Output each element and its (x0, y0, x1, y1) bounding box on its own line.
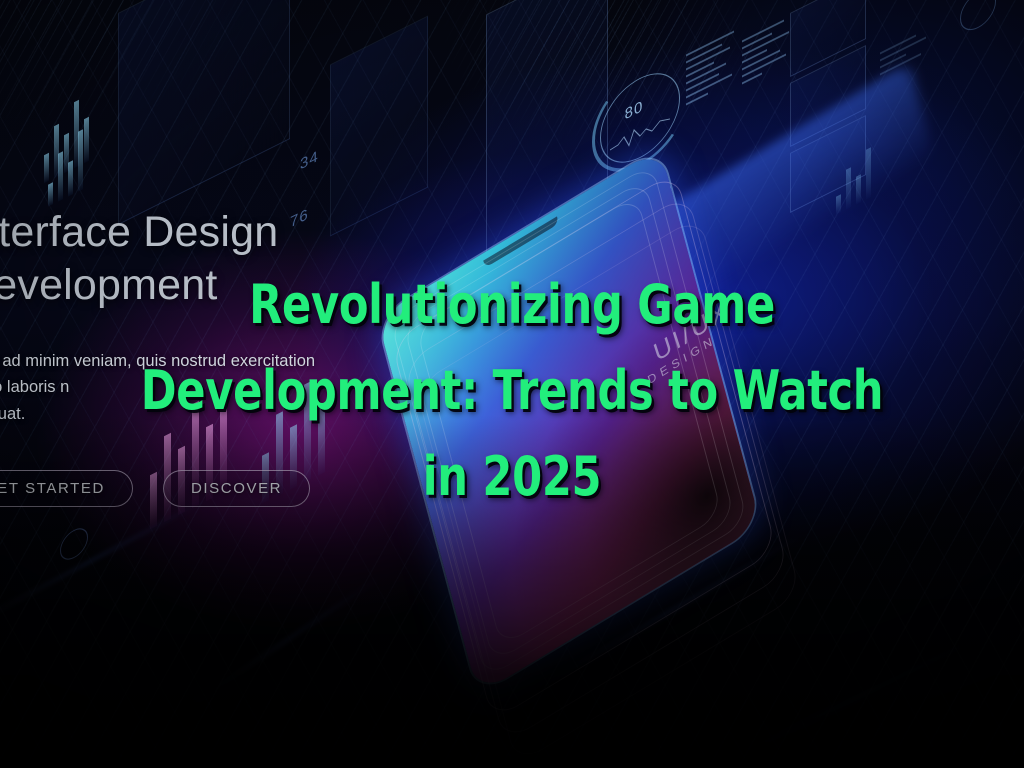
article-title: Revolutionizing Game Development: Trends… (102, 262, 921, 520)
hero-banner: 80 34 76 (0, 0, 1024, 768)
gauge-waveform-icon (610, 108, 670, 158)
hero-heading-line1: Interface Design (0, 206, 392, 259)
gauge-value: 80 (625, 97, 644, 123)
